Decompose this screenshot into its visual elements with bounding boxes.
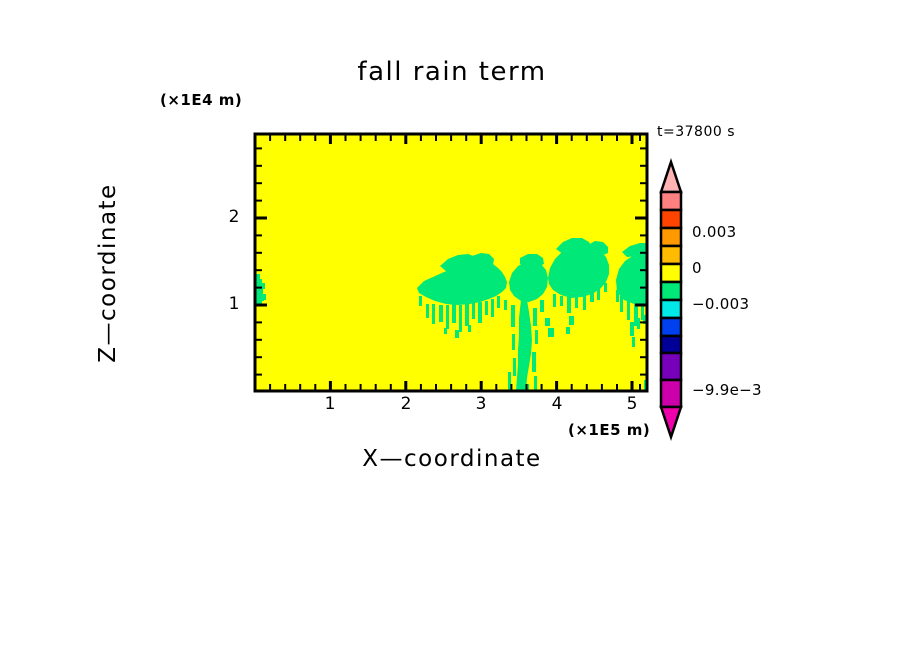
colorbar-band xyxy=(661,300,681,318)
colorbar-tick-label: −0.003 xyxy=(692,295,749,313)
colorbar-band xyxy=(661,318,681,336)
figure-canvas: fall rain term (×1E4 m) t=37800 s (×1E5 … xyxy=(0,0,904,654)
x-tick-label: 1 xyxy=(320,394,340,414)
colorbar-band xyxy=(661,336,681,353)
colorbar-band xyxy=(661,282,681,300)
colorbar-tick-label: 0.003 xyxy=(692,223,736,241)
colorbar-extend-top xyxy=(661,162,681,192)
colorbar-band xyxy=(661,228,681,246)
colorbar-extend-bottom xyxy=(661,407,681,437)
colorbar-tick-label: 0 xyxy=(692,259,702,277)
colorbar-band xyxy=(661,380,681,407)
y-tick-label: 2 xyxy=(224,207,244,227)
colorbar-band xyxy=(661,192,681,210)
colorbar-band xyxy=(661,264,681,282)
x-tick-label: 2 xyxy=(396,394,416,414)
y-tick-label: 1 xyxy=(224,294,244,314)
x-tick-label: 5 xyxy=(622,394,642,414)
colorbar-band xyxy=(661,353,681,380)
x-tick-label: 3 xyxy=(471,394,491,414)
colorbar-band xyxy=(661,210,681,228)
colorbar-tick-label: −9.9e−3 xyxy=(692,381,762,399)
colorbar-band xyxy=(661,246,681,264)
x-tick-label: 4 xyxy=(547,394,567,414)
colorbar[interactable] xyxy=(661,162,681,437)
plot-svg xyxy=(0,0,904,654)
